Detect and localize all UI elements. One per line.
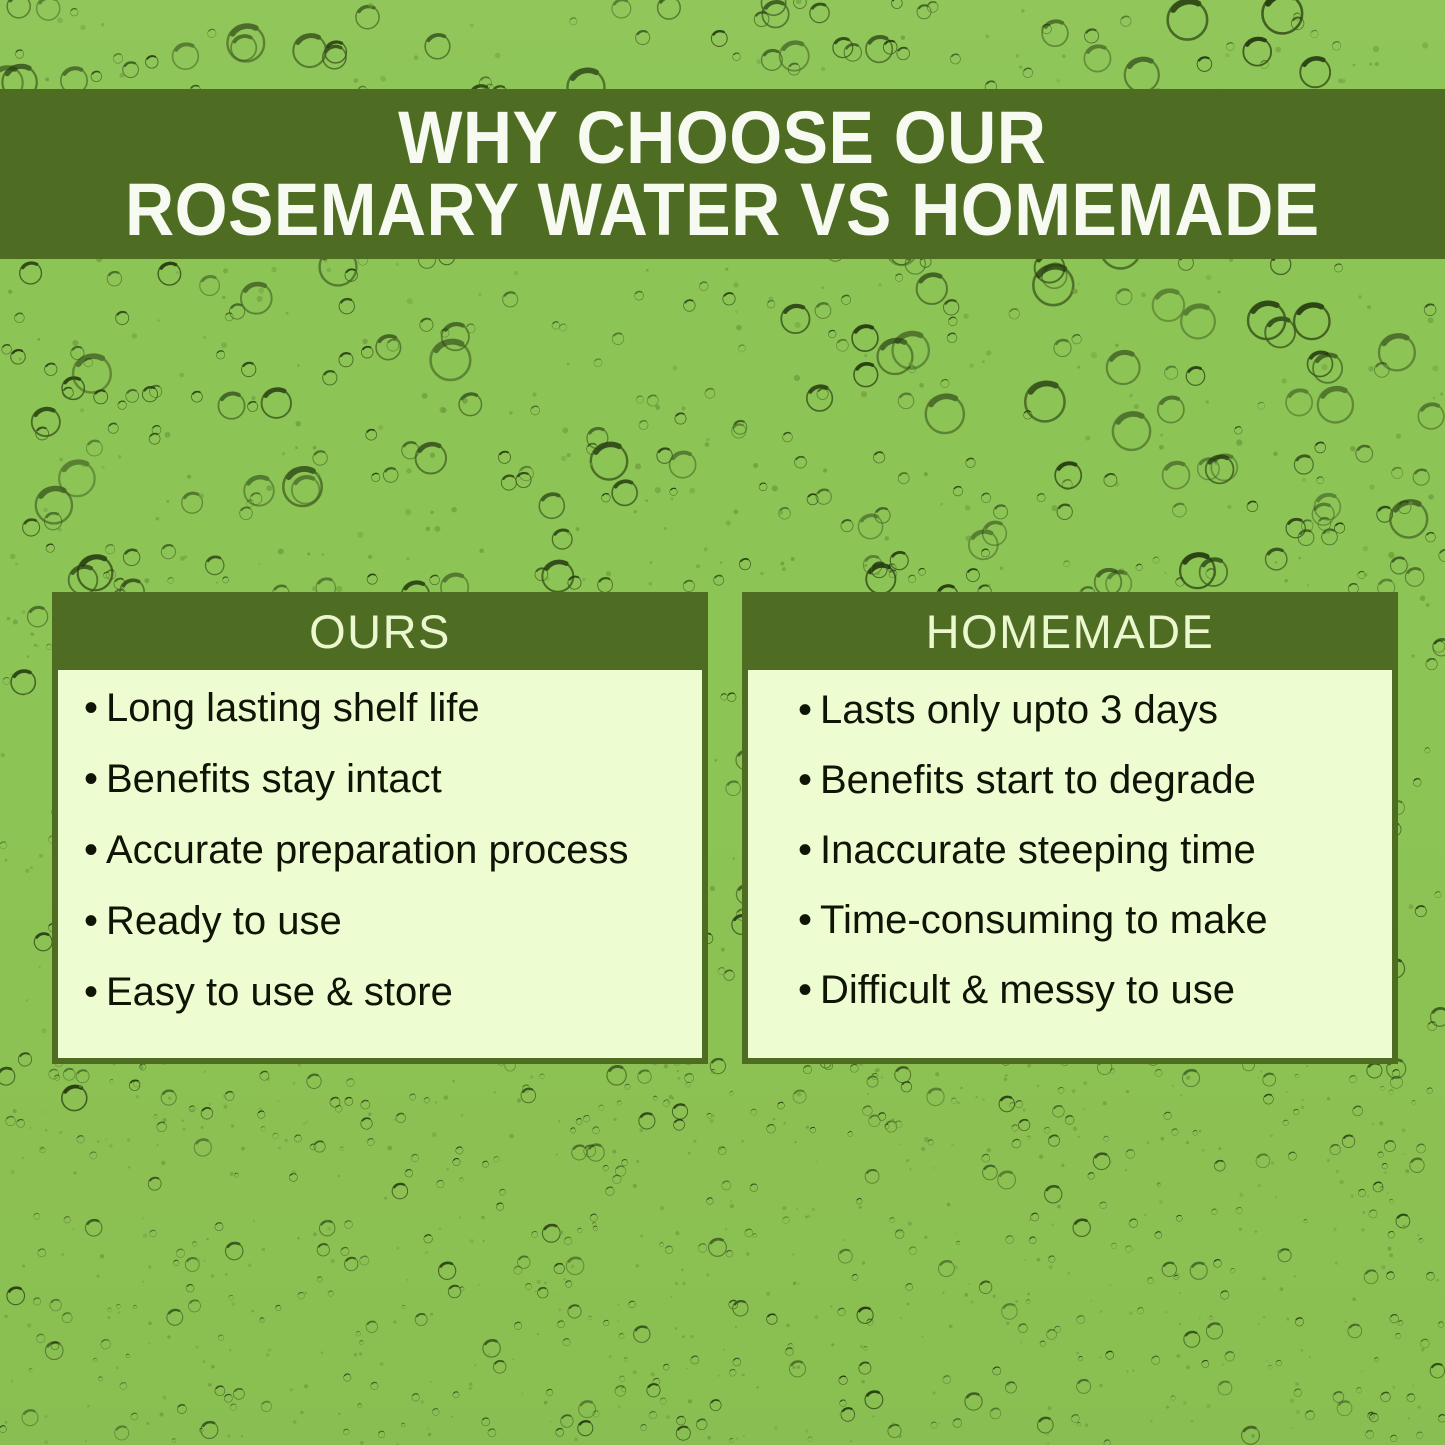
bullet-dot-icon: • (84, 900, 106, 942)
list-item: • Benefits start to degrade (798, 759, 1366, 801)
list-item-label: Difficult & messy to use (820, 969, 1366, 1011)
list-item-label: Ready to use (106, 900, 676, 942)
bullet-dot-icon: • (84, 687, 106, 729)
list-item: • Inaccurate steeping time (798, 829, 1366, 871)
list-item-label: Benefits stay intact (106, 758, 676, 800)
bullet-dot-icon: • (798, 899, 820, 941)
list-item: • Lasts only upto 3 days (798, 689, 1366, 731)
comparison-column-ours: OURS • Long lasting shelf life • Benefit… (52, 592, 708, 1064)
title-line-2: ROSEMARY WATER VS HOMEMADE (125, 174, 1320, 246)
column-header-ours-label: OURS (309, 608, 451, 655)
bullet-dot-icon: • (798, 759, 820, 801)
list-item: • Difficult & messy to use (798, 969, 1366, 1011)
title-banner: WHY CHOOSE OUR ROSEMARY WATER VS HOMEMAD… (0, 89, 1445, 259)
list-item-label: Easy to use & store (106, 971, 676, 1013)
list-item-label: Inaccurate steeping time (820, 829, 1366, 871)
bullet-list-ours: • Long lasting shelf life • Benefits sta… (58, 687, 702, 1042)
list-item-label: Accurate preparation process (106, 829, 676, 871)
bullet-dot-icon: • (798, 829, 820, 871)
column-header-homemade-label: HOMEMADE (926, 608, 1215, 655)
poster-canvas: WHY CHOOSE OUR ROSEMARY WATER VS HOMEMAD… (0, 0, 1445, 1445)
title-line-1: WHY CHOOSE OUR (398, 102, 1046, 174)
bullet-dot-icon: • (798, 689, 820, 731)
bullet-dot-icon: • (84, 971, 106, 1013)
list-item: • Accurate preparation process (84, 829, 676, 871)
column-body-homemade: • Lasts only upto 3 days • Benefits star… (742, 670, 1398, 1064)
list-item-label: Benefits start to degrade (820, 759, 1366, 801)
column-header-homemade: HOMEMADE (742, 592, 1398, 670)
bullet-list-homemade: • Lasts only upto 3 days • Benefits star… (748, 689, 1392, 1039)
bullet-dot-icon: • (84, 758, 106, 800)
bullet-dot-icon: • (798, 969, 820, 1011)
list-item: • Long lasting shelf life (84, 687, 676, 729)
list-item: • Benefits stay intact (84, 758, 676, 800)
column-header-ours: OURS (52, 592, 708, 670)
comparison-table: OURS • Long lasting shelf life • Benefit… (52, 592, 1398, 1064)
list-item: • Easy to use & store (84, 971, 676, 1013)
comparison-column-homemade: HOMEMADE • Lasts only upto 3 days • Bene… (742, 592, 1398, 1064)
bullet-dot-icon: • (84, 829, 106, 871)
list-item-label: Time-consuming to make (820, 899, 1366, 941)
column-body-ours: • Long lasting shelf life • Benefits sta… (52, 670, 708, 1064)
list-item-label: Long lasting shelf life (106, 687, 676, 729)
list-item: • Ready to use (84, 900, 676, 942)
list-item-label: Lasts only upto 3 days (820, 689, 1366, 731)
list-item: • Time-consuming to make (798, 899, 1366, 941)
